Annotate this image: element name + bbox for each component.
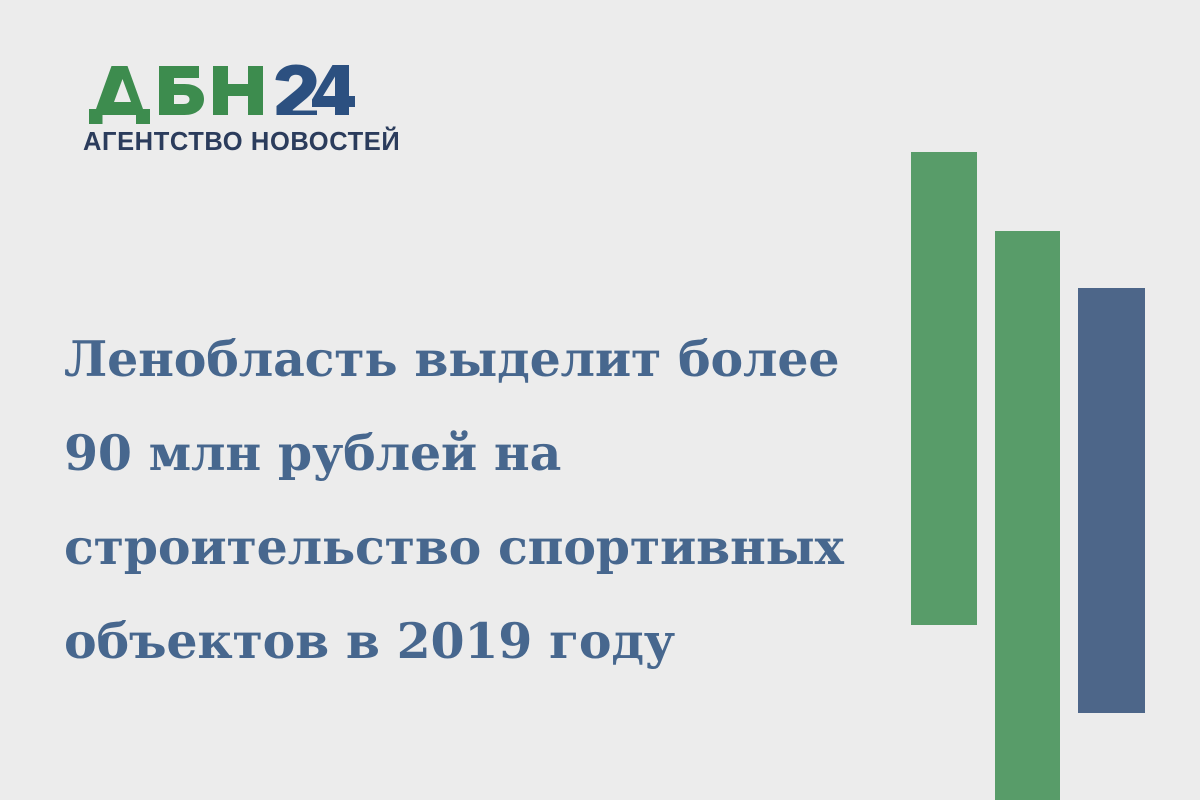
abn24-logo-icon [83,62,355,124]
page-title: Ленобласть выделит более 90 млн рублей н… [64,312,864,688]
news-card: АГЕНТСТВО НОВОСТЕЙ Ленобласть выделит бо… [0,0,1200,800]
decorative-bar-3 [1078,288,1145,713]
site-logo[interactable]: АГЕНТСТВО НОВОСТЕЙ [83,62,373,156]
decorative-bar-2 [995,231,1060,800]
decorative-bar-1 [911,152,977,625]
logo-tagline: АГЕНТСТВО НОВОСТЕЙ [83,130,373,156]
